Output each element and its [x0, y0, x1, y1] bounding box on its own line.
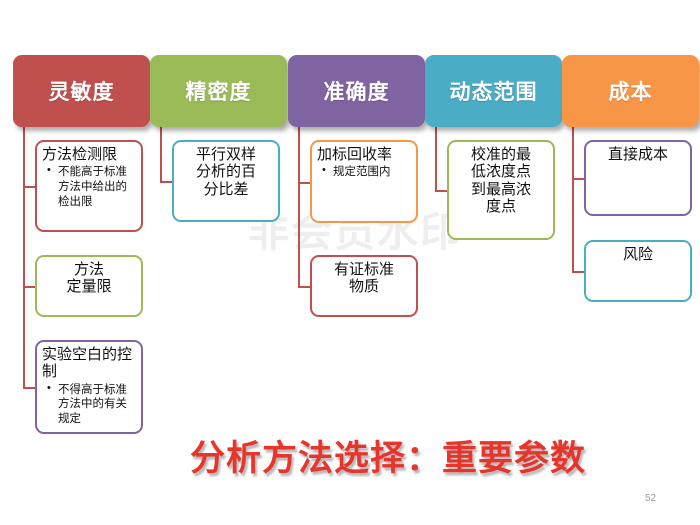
node-title: 直接成本 — [591, 146, 685, 163]
node-box-accuracy-1[interactable]: 有证标准物质 — [310, 255, 418, 317]
node-title: 风险 — [591, 246, 685, 263]
column-header-cost[interactable]: 成本 — [562, 55, 699, 127]
column-header-label: 准确度 — [324, 76, 390, 106]
mindmap-column-precision: 精密度平行双样分析的百分比差 — [150, 55, 287, 127]
node-title: 校准的最低浓度点到最高浓度点 — [454, 146, 548, 216]
node-bullet-item: 规定范围内 — [333, 165, 411, 180]
node-box-sensitivity-1[interactable]: 方法定量限 — [35, 255, 143, 317]
mindmap-column-sensitivity: 灵敏度方法检测限不能高于标准方法中给出的检出限方法定量限实验空白的控制不得高于标… — [13, 55, 150, 127]
column-header-label: 成本 — [609, 76, 653, 106]
mindmap-column-cost: 成本直接成本风险 — [562, 55, 699, 127]
page-number: 52 — [645, 493, 656, 504]
node-title: 方法检测限 — [42, 146, 136, 163]
column-header-precision[interactable]: 精密度 — [150, 55, 287, 127]
node-box-cost-0[interactable]: 直接成本 — [584, 140, 692, 216]
slide-canvas: 非会员水印 灵敏度方法检测限不能高于标准方法中给出的检出限方法定量限实验空白的控… — [0, 0, 700, 525]
node-bullet-list: 不得高于标准方法中的有关规定 — [42, 383, 136, 427]
column-header-dynamic-range[interactable]: 动态范围 — [425, 55, 562, 127]
column-header-accuracy[interactable]: 准确度 — [288, 55, 425, 127]
node-box-accuracy-0[interactable]: 加标回收率规定范围内 — [310, 140, 418, 223]
node-title: 平行双样分析的百分比差 — [179, 146, 273, 198]
node-title: 有证标准物质 — [317, 261, 411, 296]
connector-spine-accuracy — [298, 127, 300, 286]
node-bullet-list: 不能高于标准方法中给出的检出限 — [42, 165, 136, 209]
node-box-sensitivity-0[interactable]: 方法检测限不能高于标准方法中给出的检出限 — [35, 140, 143, 232]
connector-spine-precision — [160, 127, 162, 181]
node-box-dynamic-range-0[interactable]: 校准的最低浓度点到最高浓度点 — [447, 140, 555, 240]
node-bullet-item: 不能高于标准方法中给出的检出限 — [58, 165, 136, 209]
node-title: 加标回收率 — [317, 146, 411, 163]
node-box-sensitivity-2[interactable]: 实验空白的控制不得高于标准方法中的有关规定 — [35, 340, 143, 434]
node-bullet-list: 规定范围内 — [317, 165, 411, 180]
column-header-sensitivity[interactable]: 灵敏度 — [13, 55, 150, 127]
column-header-label: 动态范围 — [450, 76, 538, 106]
node-title: 方法定量限 — [42, 261, 136, 296]
column-header-label: 精密度 — [186, 76, 252, 106]
node-box-cost-1[interactable]: 风险 — [584, 240, 692, 302]
node-title: 实验空白的控制 — [42, 346, 136, 381]
connector-spine-dynamic-range — [435, 127, 437, 190]
column-header-label: 灵敏度 — [49, 76, 115, 106]
mindmap-column-dynamic-range: 动态范围校准的最低浓度点到最高浓度点 — [425, 55, 562, 127]
mindmap-column-accuracy: 准确度加标回收率规定范围内有证标准物质 — [288, 55, 425, 127]
node-bullet-item: 不得高于标准方法中的有关规定 — [58, 383, 136, 427]
connector-spine-cost — [572, 127, 574, 271]
connector-spine-sensitivity — [23, 127, 25, 387]
node-box-precision-0[interactable]: 平行双样分析的百分比差 — [172, 140, 280, 222]
slide-title: 分析方法选择：重要参数 — [190, 430, 586, 481]
